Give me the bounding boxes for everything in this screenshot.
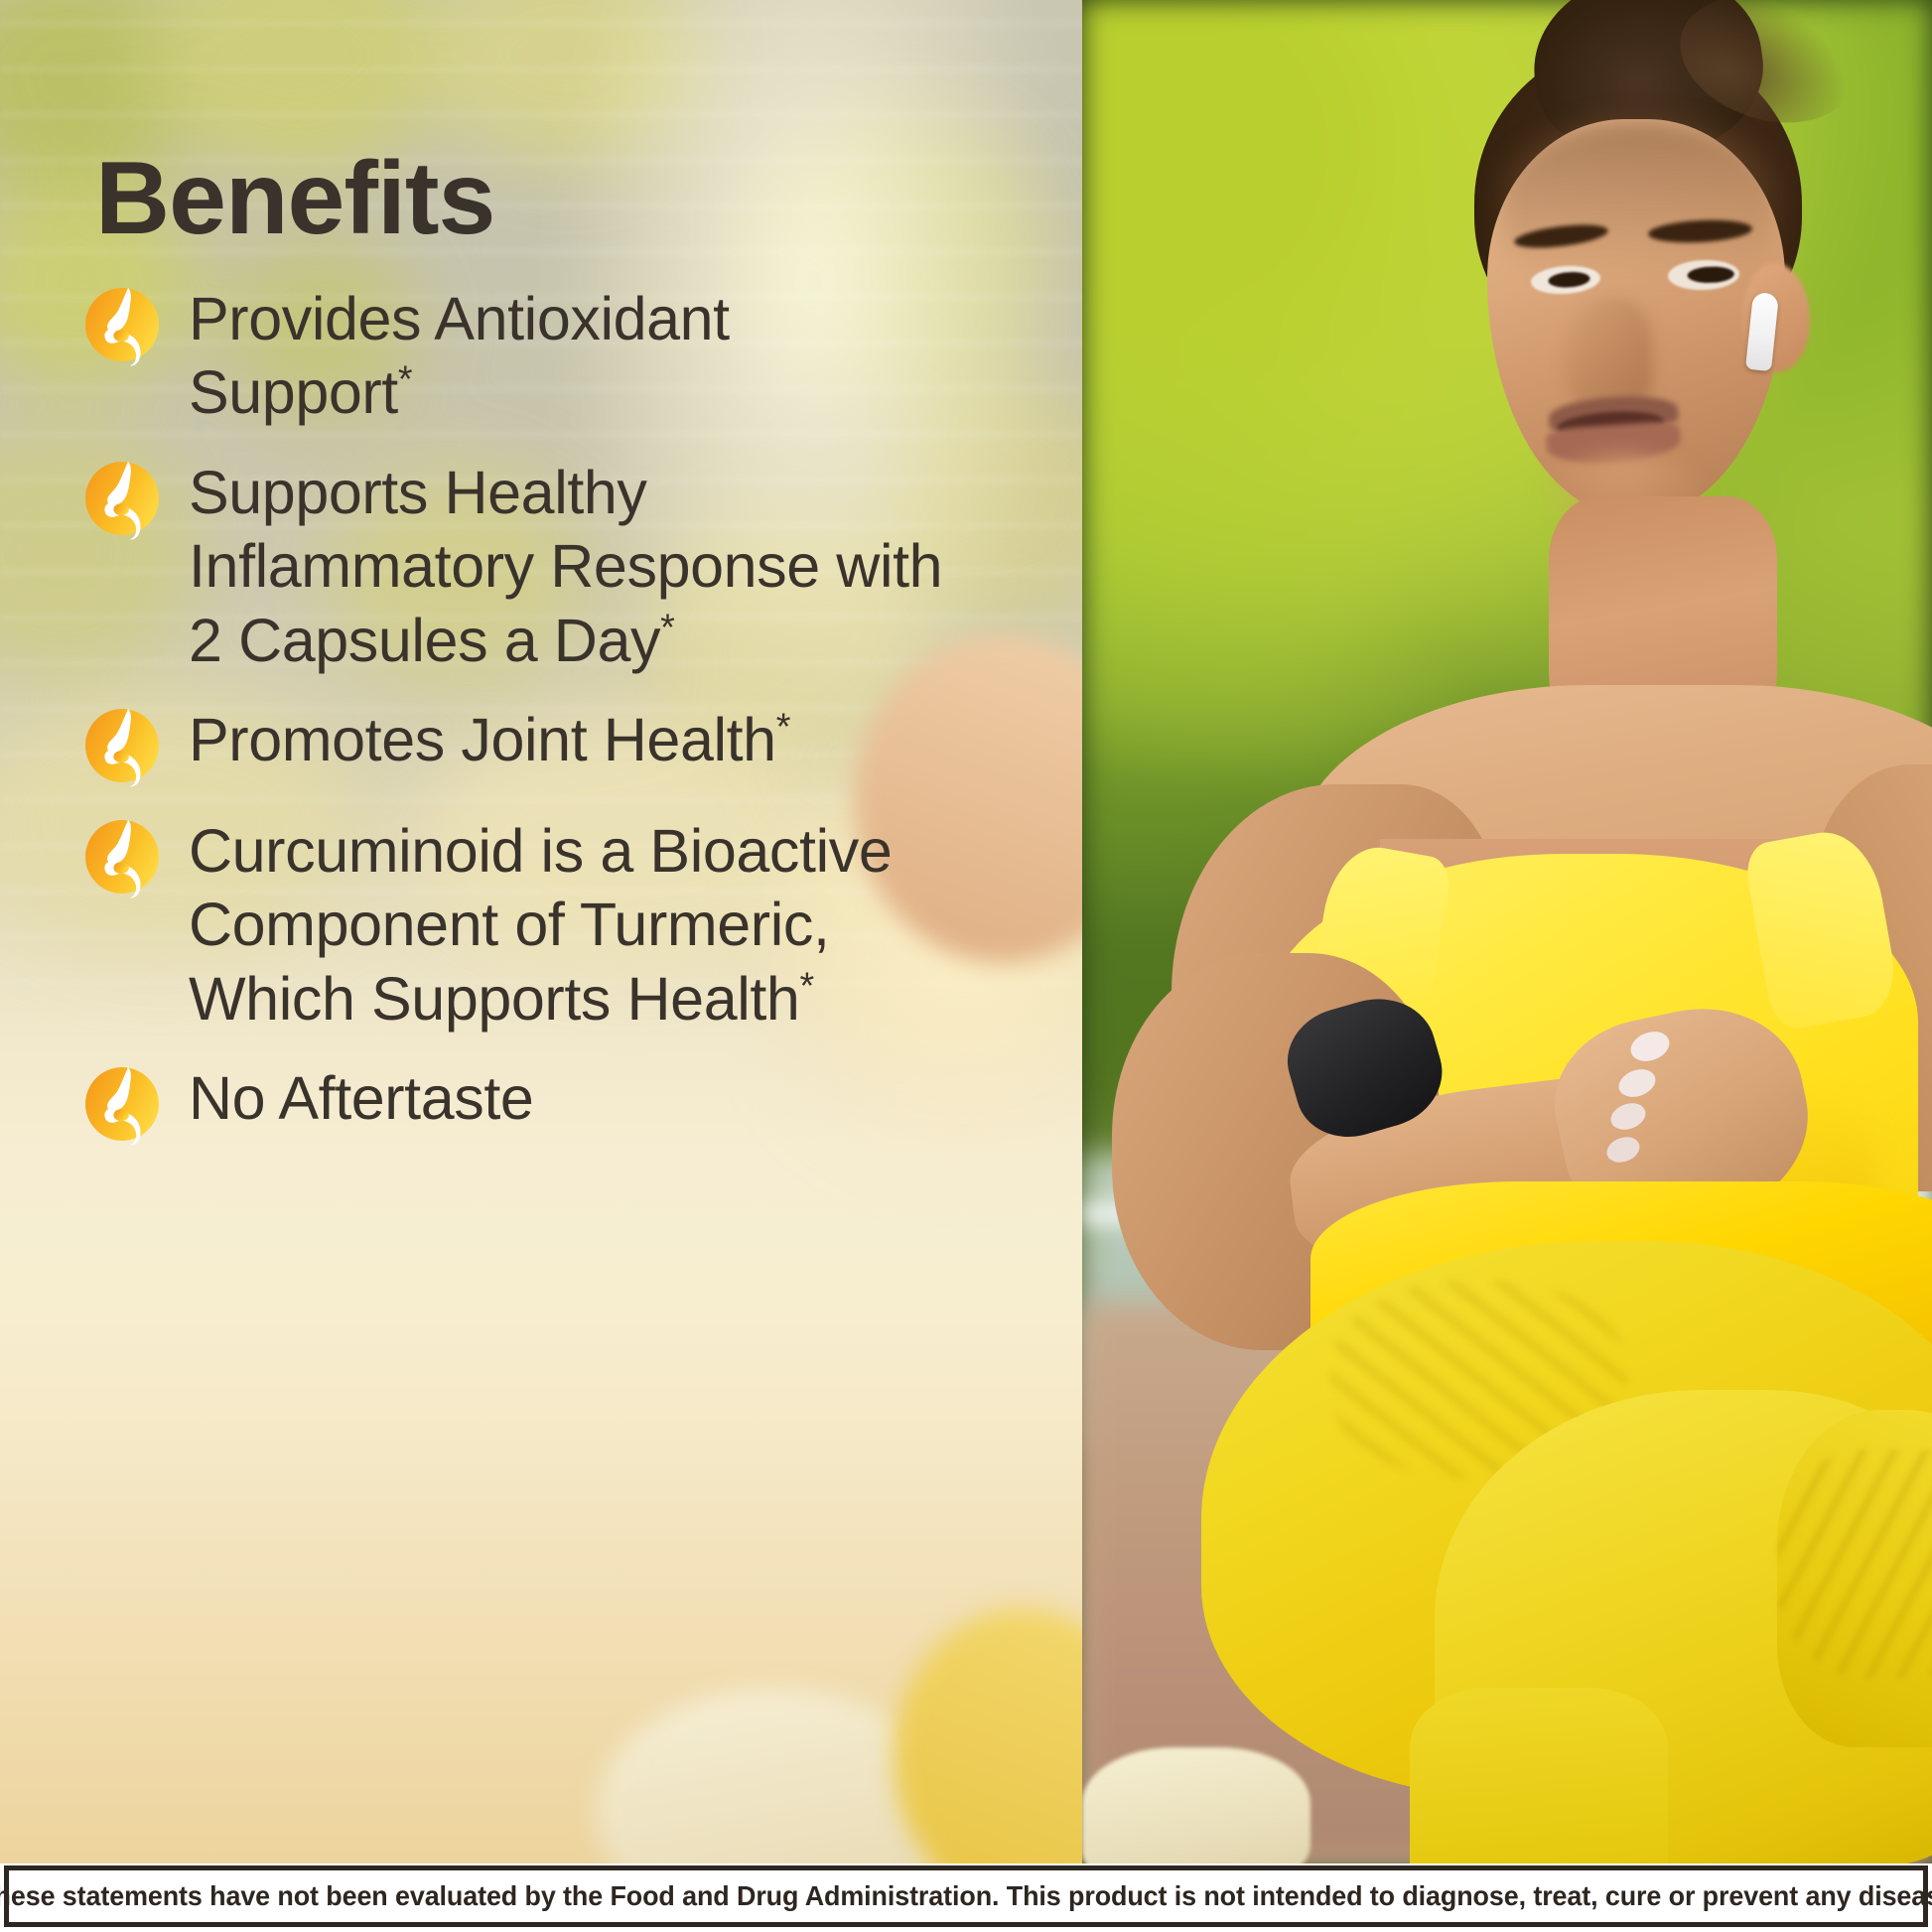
knee-joint-icon [79,456,165,541]
photo-shoe [1082,1747,1311,1863]
list-item-label: Curcuminoid is a Bioactive Component of … [189,810,953,1035]
list-item: No Aftertaste [79,1057,973,1147]
list-item-label: Supports Healthy Inflammatory Response w… [189,452,953,677]
asterisk-marker: * [398,359,412,401]
list-item: Supports Healthy Inflammatory Response w… [79,452,973,677]
benefits-panel: Benefits [0,0,1082,1863]
list-item: Curcuminoid is a Bioactive Component of … [79,810,973,1035]
fda-disclaimer-bar: *These statements have not been evaluate… [4,1865,1928,1927]
photo-forehead-shadow [1499,119,1777,278]
page-title: Benefits [95,147,494,250]
knee-joint-icon [79,282,165,367]
list-item-label: Provides Antioxidant Support* [189,278,953,430]
list-item-label: No Aftertaste [189,1057,533,1135]
list-item: Provides Antioxidant Support* [79,278,973,430]
list-item-label: Promotes Joint Health* [189,699,790,776]
asterisk-marker: * [660,607,674,648]
fda-disclaimer-text: *These statements have not been evaluate… [0,1880,1932,1912]
knee-joint-icon [79,703,165,788]
photo-fabric-folds-knee [1777,1449,1932,1678]
list-item: Promotes Joint Health* [79,699,973,788]
photo-lower-leg [1410,1688,1668,1863]
benefits-list: Provides Antioxidant Support* Supports H… [79,278,973,1169]
asterisk-marker: * [799,966,813,1008]
asterisk-marker: * [776,707,790,749]
knee-joint-icon [79,1061,165,1147]
product-benefits-infographic: Benefits [0,0,1932,1932]
knee-joint-icon [79,814,165,899]
lifestyle-photo [1082,0,1932,1863]
